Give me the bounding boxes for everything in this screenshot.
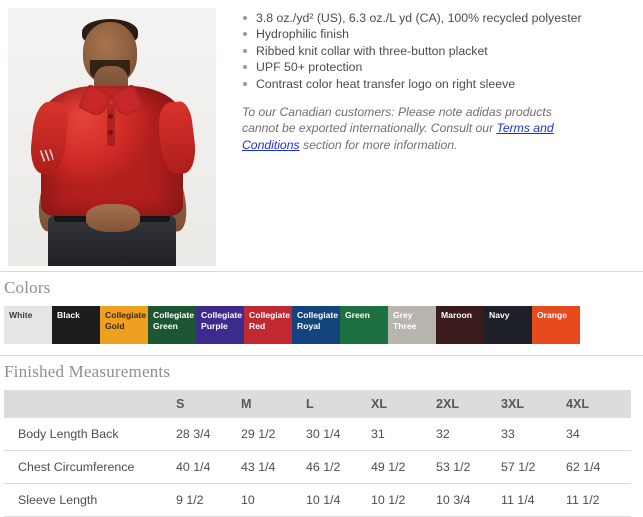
table-body: Body Length Back 28 3/4 29 1/2 30 1/4 31…: [4, 418, 631, 517]
cell: 34: [566, 418, 631, 451]
list-item: 3.8 oz./yd² (US), 6.3 oz./L yd (CA), 100…: [242, 10, 633, 26]
table-header: S M L XL 2XL 3XL 4XL: [4, 390, 631, 418]
list-item: Contrast color heat transfer logo on rig…: [242, 76, 633, 92]
column-header-xl: XL: [371, 390, 436, 418]
column-header-l: L: [306, 390, 371, 418]
cell: 11 1/2: [566, 484, 631, 517]
product-overview: 3.8 oz./yd² (US), 6.3 oz./L yd (CA), 100…: [0, 0, 643, 266]
table-row: Body Length Back 28 3/4 29 1/2 30 1/4 31…: [4, 418, 631, 451]
color-swatch[interactable]: Collegiate Gold: [100, 306, 148, 344]
polo-button-top: [108, 114, 113, 119]
cell: 62 1/4: [566, 451, 631, 484]
cell: 30 1/4: [306, 418, 371, 451]
cell: 33: [501, 418, 566, 451]
cell: 9 1/2: [176, 484, 241, 517]
note-text-after: section for more information.: [300, 138, 458, 152]
cell: 10 3/4: [436, 484, 501, 517]
cell: 40 1/4: [176, 451, 241, 484]
cell: 10 1/4: [306, 484, 371, 517]
list-item: Ribbed knit collar with three-button pla…: [242, 43, 633, 59]
color-swatch[interactable]: Maroon: [436, 306, 484, 344]
color-swatch-list: White Black Collegiate Gold Collegiate G…: [4, 306, 542, 344]
color-swatch[interactable]: Collegiate Purple: [196, 306, 244, 344]
cell: 53 1/2: [436, 451, 501, 484]
cell: 31: [371, 418, 436, 451]
column-header-3xl: 3XL: [501, 390, 566, 418]
row-label: Chest Circumference: [4, 451, 176, 484]
cell: 10: [241, 484, 306, 517]
cell: 10 1/2: [371, 484, 436, 517]
list-item: Hydrophilic finish: [242, 26, 633, 42]
product-specs: 3.8 oz./yd² (US), 6.3 oz./L yd (CA), 100…: [216, 0, 643, 165]
row-label: Body Length Back: [4, 418, 176, 451]
column-header-blank: [4, 390, 176, 418]
spec-bullet-list: 3.8 oz./yd² (US), 6.3 oz./L yd (CA), 100…: [242, 10, 633, 92]
cell: 29 1/2: [241, 418, 306, 451]
measurements-heading: Finished Measurements: [0, 356, 643, 390]
table-row: Sleeve Length 9 1/2 10 10 1/4 10 1/2 10 …: [4, 484, 631, 517]
table-row: Chest Circumference 40 1/4 43 1/4 46 1/2…: [4, 451, 631, 484]
colors-heading: Colors: [0, 272, 643, 306]
canadian-customers-note: To our Canadian customers: Please note a…: [242, 104, 572, 153]
color-swatch[interactable]: Collegiate Green: [148, 306, 196, 344]
column-header-4xl: 4XL: [566, 390, 631, 418]
list-item: UPF 50+ protection: [242, 59, 633, 75]
polo-button-bottom: [108, 130, 113, 135]
cell: 11 1/4: [501, 484, 566, 517]
polo-placket: [107, 104, 115, 146]
column-header-m: M: [241, 390, 306, 418]
cell: 57 1/2: [501, 451, 566, 484]
cell: 49 1/2: [371, 451, 436, 484]
cell: 46 1/2: [306, 451, 371, 484]
finished-measurements-table: S M L XL 2XL 3XL 4XL Body Length Back 28…: [4, 390, 631, 517]
product-photo: [8, 8, 216, 266]
color-swatch[interactable]: Collegiate Red: [244, 306, 292, 344]
cell: 32: [436, 418, 501, 451]
adidas-logo-icon: [38, 149, 53, 161]
color-swatch[interactable]: Black: [52, 306, 100, 344]
color-swatch[interactable]: Collegiate Royal: [292, 306, 340, 344]
color-swatch[interactable]: Green: [340, 306, 388, 344]
table-header-row: S M L XL 2XL 3XL 4XL: [4, 390, 631, 418]
cell: 43 1/4: [241, 451, 306, 484]
model-hands: [86, 204, 140, 232]
color-swatch[interactable]: Orange: [532, 306, 580, 344]
cell: 28 3/4: [176, 418, 241, 451]
color-swatch[interactable]: Navy: [484, 306, 532, 344]
color-swatch[interactable]: Grey Three: [388, 306, 436, 344]
product-image[interactable]: [8, 8, 216, 266]
column-header-2xl: 2XL: [436, 390, 501, 418]
column-header-s: S: [176, 390, 241, 418]
row-label: Sleeve Length: [4, 484, 176, 517]
color-swatch[interactable]: White: [4, 306, 52, 344]
